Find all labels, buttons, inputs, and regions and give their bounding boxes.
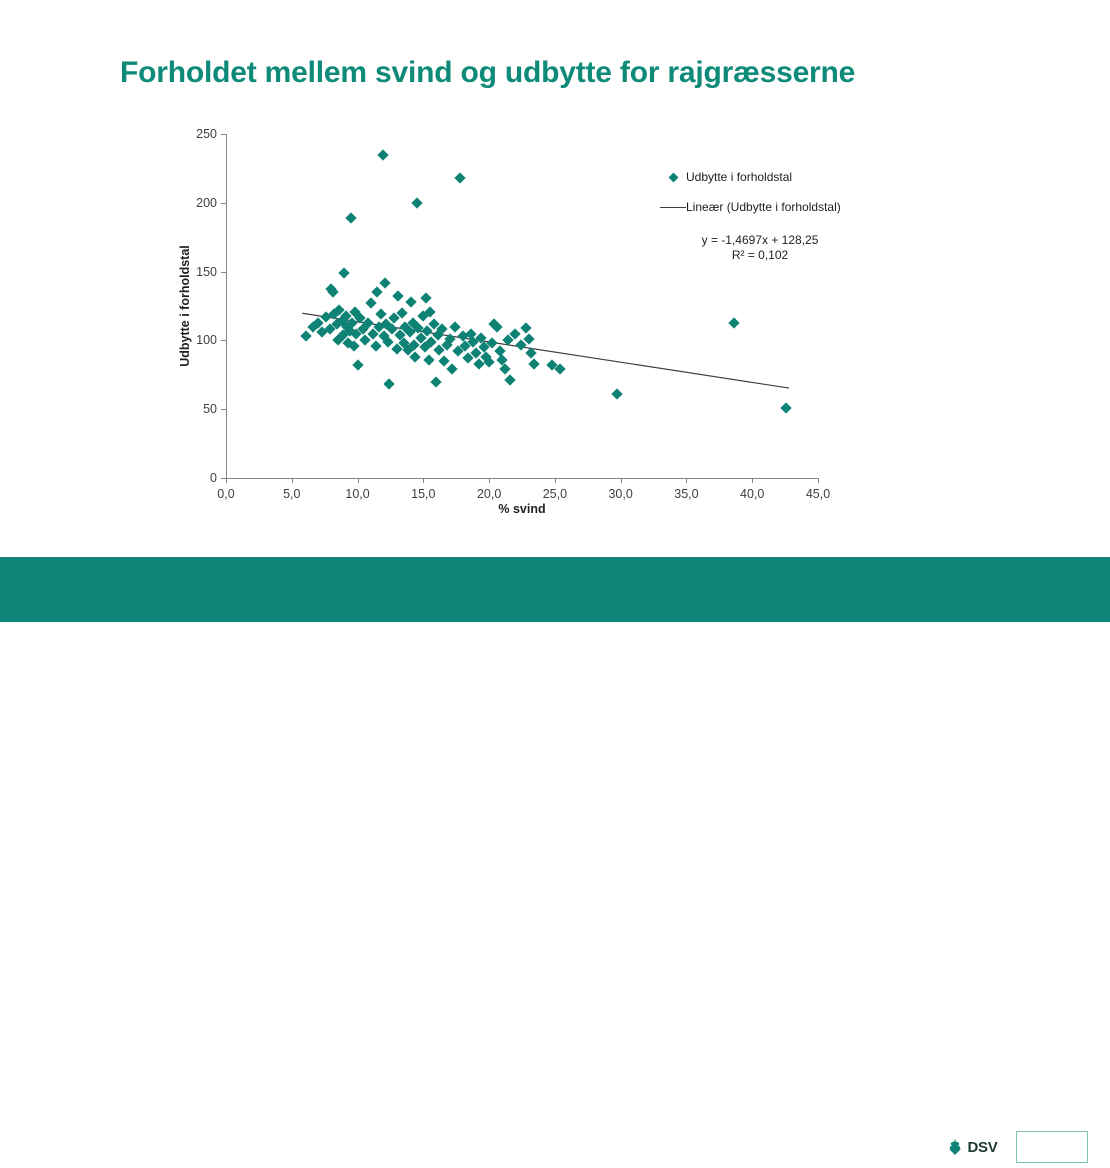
- x-tick-label: 40,0: [740, 487, 764, 501]
- data-point: [406, 296, 417, 307]
- data-point: [781, 402, 792, 413]
- data-point: [520, 322, 531, 333]
- data-point: [528, 358, 539, 369]
- data-point: [454, 172, 465, 183]
- x-tick-label: 5,0: [283, 487, 300, 501]
- y-tick-label: 250: [196, 127, 217, 141]
- dsv-logo: DSV: [935, 1131, 1007, 1163]
- data-point: [526, 347, 537, 358]
- data-point: [365, 298, 376, 309]
- x-tick-mark: [358, 478, 359, 483]
- tagline-line-1: Innovation: [1024, 1140, 1054, 1147]
- slide-canvas: Forholdet mellem svind og udbytte for ra…: [0, 0, 1110, 622]
- x-tick-mark: [686, 478, 687, 483]
- data-point: [372, 287, 383, 298]
- trendline-equation: y = -1,4697x + 128,25: [660, 233, 860, 248]
- x-axis-line: [226, 478, 818, 479]
- legend-item-trendline[interactable]: Lineær (Udbytte i forholdstal): [660, 200, 860, 214]
- x-tick-mark: [621, 478, 622, 483]
- x-tick-label: 15,0: [411, 487, 435, 501]
- x-tick-label: 45,0: [806, 487, 830, 501]
- trendline-equation-block: y = -1,4697x + 128,25 R² = 0,102: [660, 233, 860, 263]
- footer-url[interactable]: www.dsv-froe.dk: [24, 1154, 129, 1168]
- x-tick-mark: [292, 478, 293, 483]
- x-tick-mark: [818, 478, 819, 483]
- data-point: [377, 149, 388, 160]
- tagline-box: Innovation og vækst: [1016, 1131, 1088, 1163]
- x-tick-label: 25,0: [543, 487, 567, 501]
- data-point: [420, 292, 431, 303]
- x-axis-title: % svind: [226, 502, 818, 516]
- y-tick-label: 50: [203, 402, 217, 416]
- data-point: [504, 375, 515, 386]
- data-point: [380, 277, 391, 288]
- y-axis-title-label: Udbytte i forholdstal: [178, 245, 192, 367]
- x-tick-label: 35,0: [674, 487, 698, 501]
- legend-item-scatter[interactable]: Udbytte i forholdstal: [660, 170, 860, 184]
- y-tick-label: 200: [196, 196, 217, 210]
- trendline-r-squared: R² = 0,102: [660, 248, 860, 263]
- data-point: [483, 357, 494, 368]
- x-tick-label: 10,0: [345, 487, 369, 501]
- y-tick-label: 0: [210, 471, 217, 485]
- x-tick-label: 20,0: [477, 487, 501, 501]
- data-point: [554, 364, 565, 375]
- y-tick-label: 150: [196, 265, 217, 279]
- data-point: [423, 354, 434, 365]
- data-point: [431, 376, 442, 387]
- x-tick-label: 30,0: [608, 487, 632, 501]
- y-axis-title: Udbytte i forholdstal: [176, 134, 194, 478]
- footer-band: www.dsv-froe.dk DSV Innovation og vækst: [0, 557, 1110, 622]
- y-tick-label: 100: [196, 333, 217, 347]
- x-tick-label: 0,0: [217, 487, 234, 501]
- data-point: [728, 317, 739, 328]
- x-tick-mark: [423, 478, 424, 483]
- data-point: [339, 267, 350, 278]
- data-point: [447, 364, 458, 375]
- data-point: [411, 197, 422, 208]
- chart-legend: Udbytte i forholdstal Lineær (Udbytte i …: [660, 170, 860, 230]
- legend-label-trendline: Lineær (Udbytte i forholdstal): [686, 200, 841, 214]
- tagline-line-2: og vækst: [1024, 1147, 1050, 1154]
- legend-diamond-icon: [660, 174, 686, 181]
- data-point: [439, 355, 450, 366]
- x-tick-mark: [555, 478, 556, 483]
- data-point: [352, 359, 363, 370]
- plant-leaf-icon: [945, 1137, 965, 1157]
- dsv-wordmark: DSV: [968, 1139, 998, 1156]
- x-tick-mark: [752, 478, 753, 483]
- logo-group: DSV Innovation og vækst: [935, 1131, 1088, 1163]
- legend-line-icon: [660, 207, 686, 208]
- data-point: [383, 379, 394, 390]
- x-tick-mark: [489, 478, 490, 483]
- data-point: [393, 291, 404, 302]
- data-point: [449, 321, 460, 332]
- data-point: [345, 212, 356, 223]
- data-point: [301, 331, 312, 342]
- data-point: [370, 340, 381, 351]
- data-point: [410, 351, 421, 362]
- data-point: [611, 388, 622, 399]
- legend-label-scatter: Udbytte i forholdstal: [686, 170, 792, 184]
- x-tick-mark: [226, 478, 227, 483]
- scatter-chart: Udbytte i forholdstal % svind 0501001502…: [0, 0, 1110, 545]
